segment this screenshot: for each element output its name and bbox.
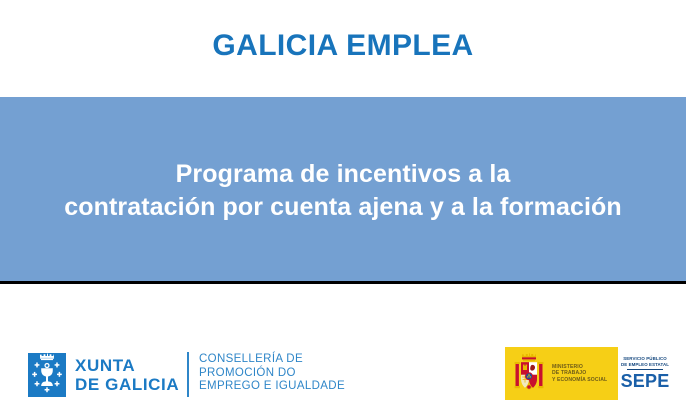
xunta-emblem-icon [28,353,66,397]
sepe-logo: SERVICIO PÚBLICO DE EMPLEO ESTATAL SEPE [618,347,672,400]
xunta-wordmark-line-1: XUNTA [75,356,179,375]
footer-divider [187,352,189,397]
sepe-acronym: SEPE [621,371,670,391]
sepe-subtitle-line-1: SERVICIO PÚBLICO [621,356,669,361]
banner-heading: Programa de incentivos a la contratación… [16,158,670,224]
slide-canvas: GALICIA EMPLEA Programa de incentivos a … [0,0,686,410]
sepe-rule [627,369,663,370]
spain-coat-of-arms-icon [512,353,546,395]
xunta-de-galicia-logo: XUNTA DE GALICIA [28,352,179,398]
banner-heading-line-1: Programa de incentivos a la [16,158,670,191]
xunta-wordmark-line-2: DE GALICIA [75,375,179,394]
sepe-subtitle-line-2: DE EMPLEO ESTATAL [621,362,669,367]
page-title: GALICIA EMPLEA [0,28,686,64]
conselleria-label: CONSELLERÍA DE PROMOCIÓN DO EMPREGO E IG… [199,353,345,394]
conselleria-line-3: EMPREGO E IGUALDADE [199,380,345,394]
banner-bottom-rule [0,281,686,284]
ministerio-line-3: Y ECONOMÍA SOCIAL [552,377,607,383]
xunta-wordmark: XUNTA DE GALICIA [75,356,179,394]
ministerio-de-trabajo-logo: MINISTERIO DE TRABAJO Y ECONOMÍA SOCIAL [505,347,618,400]
conselleria-line-2: PROMOCIÓN DO [199,367,345,381]
ministerio-wordmark: MINISTERIO DE TRABAJO Y ECONOMÍA SOCIAL [552,364,607,383]
conselleria-line-1: CONSELLERÍA DE [199,353,345,367]
banner-heading-line-2: contratación por cuenta ajena y a la for… [16,191,670,224]
sepe-subtitle: SERVICIO PÚBLICO DE EMPLEO ESTATAL [621,356,669,367]
